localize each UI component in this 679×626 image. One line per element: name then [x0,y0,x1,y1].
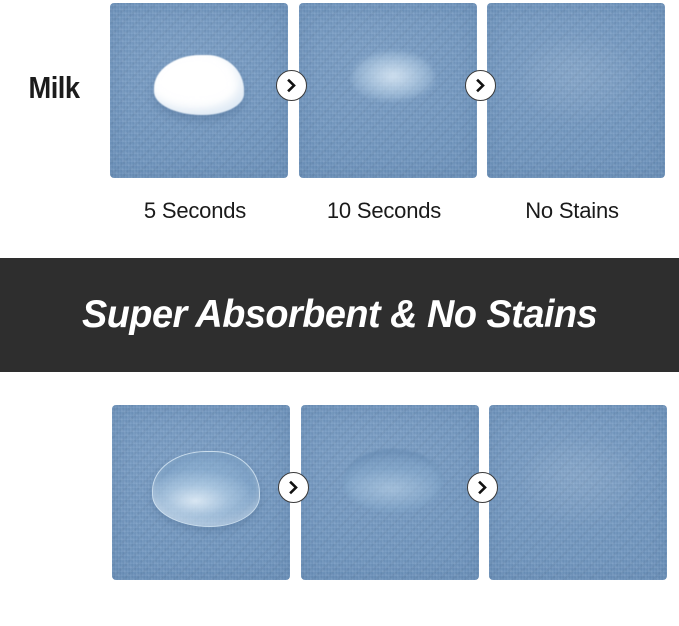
chevron-right-icon [276,70,307,101]
water-droplet-beaded [152,451,260,527]
fabric-swatch-milk-5-seconds [110,3,288,178]
headline-banner: Super Absorbent & No Stains [0,258,679,372]
test-row-milk: Milk 5 Seconds 10 Seconds No Stains [0,0,679,250]
milk-stain-faded [351,51,435,101]
fabric-swatch-water-10-seconds [301,405,479,580]
headline-text: Super Absorbent & No Stains [82,293,597,337]
test-row-water: Water 5 Seconds 10 Seconds No Stains [0,380,679,626]
panel-caption-milk-2: 10 Seconds [295,198,473,224]
water-stain-residual-ghost [525,439,635,523]
milk-stain-residual-ghost [523,37,633,121]
chevron-right-icon [467,472,498,503]
fabric-swatch-water-5-seconds [112,405,290,580]
chevron-right-icon [465,70,496,101]
water-patch-absorbing [343,449,443,513]
milk-stain-full [154,55,244,115]
fabric-swatch-milk-10-seconds [299,3,477,178]
chevron-right-icon [278,472,309,503]
fabric-swatch-milk-no-stains [487,3,665,178]
fabric-swatch-water-no-stains [489,405,667,580]
panel-caption-milk-3: No Stains [483,198,661,224]
absorbency-infographic: Milk 5 Seconds 10 Seconds No Stains [0,0,679,626]
panel-caption-milk-1: 5 Seconds [106,198,284,224]
row-label-milk: Milk [6,70,101,106]
